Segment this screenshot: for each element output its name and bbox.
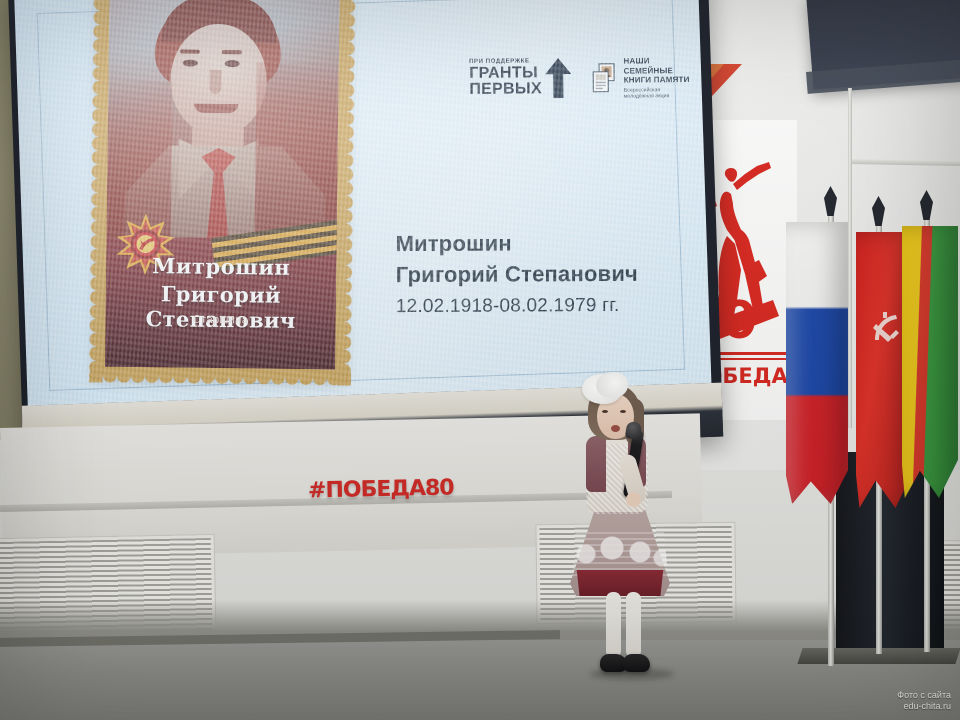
- microphone-head-icon: [625, 421, 642, 440]
- grants-of-the-first-logo: ПРИ ПОДДЕРЖКЕ ГРАНТЫ ПЕРВЫХ: [469, 58, 571, 99]
- family-memory-books-logo: НАШИ СЕМЕЙНЫЕ КНИГИ ПАМЯТИ Всероссийская…: [591, 56, 702, 100]
- presenter-leg-right: [626, 592, 641, 658]
- presenter-eye-right: [620, 410, 626, 413]
- memory-books-text-block: НАШИ СЕМЕЙНЫЕ КНИГИ ПАМЯТИ Всероссийская…: [623, 56, 701, 100]
- card-name-plate: Митрошин Григорий Степанович Старшина: [105, 237, 337, 370]
- presenter-eye-left: [602, 410, 608, 413]
- presenter-vest-left: [586, 436, 606, 492]
- presenter-hair-bow-second: [596, 372, 628, 398]
- flag-russia: [786, 222, 848, 504]
- wall-pipe: [848, 88, 852, 428]
- hammer-and-sickle-icon: [870, 310, 900, 350]
- card-body: Митрошин Григорий Степанович Старшина: [105, 0, 340, 369]
- flag-zabaykalsky-krai: [902, 226, 958, 498]
- memorial-stamp-card: Митрошин Григорий Степанович Старшина Бе…: [96, 0, 349, 378]
- presenter-skirt-hem: [574, 570, 666, 596]
- slide-given-name: Григорий Степанович: [396, 261, 696, 289]
- photo-frames-icon: [591, 62, 618, 94]
- photo-scene: 80 ПОБЕДА!: [0, 0, 960, 720]
- photo-watermark: Фото с сайта edu-chita.ru: [897, 690, 951, 712]
- watermark-line1: Фото с сайта: [897, 690, 951, 701]
- grants-line2: ПЕРВЫХ: [469, 82, 542, 99]
- watermark-line2: edu-chita.ru: [897, 701, 951, 712]
- memory-books-subtitle: Всероссийская молодёжная акция: [624, 86, 702, 99]
- memory-books-line1: НАШИ СЕМЕЙНЫЕ: [623, 56, 701, 76]
- slide-surname: Митрошин: [395, 230, 695, 258]
- slide-person-text: Митрошин Григорий Степанович 12.02.1918-…: [395, 230, 695, 319]
- grants-text-block: ПРИ ПОДДЕРЖКЕ ГРАНТЫ ПЕРВЫХ: [469, 59, 542, 99]
- presenter-skirt-lace: [572, 532, 668, 576]
- presenter-shoe-right: [623, 654, 650, 672]
- memory-books-line2: КНИГИ ПАМЯТИ: [624, 75, 702, 85]
- stamp-perforated-frame: Митрошин Григорий Степанович Старшина: [96, 0, 349, 378]
- victory-hashtag-sign: #ПОБЕДА80: [308, 475, 454, 503]
- slide-logos-row: ПРИ ПОДДЕРЖКЕ ГРАНТЫ ПЕРВЫХ: [469, 56, 701, 101]
- card-surname: Митрошин: [106, 253, 336, 281]
- grants-arrow-icon: [545, 58, 571, 98]
- projected-slide: Митрошин Григорий Степанович Старшина Бе…: [14, 0, 711, 406]
- presenter-leg-left: [606, 592, 621, 658]
- girl-presenter: [566, 372, 688, 680]
- presenter-mouth: [611, 425, 620, 432]
- slide-life-dates: 12.02.1918-08.02.1979 гг.: [396, 295, 696, 319]
- presenter-hand: [626, 492, 641, 507]
